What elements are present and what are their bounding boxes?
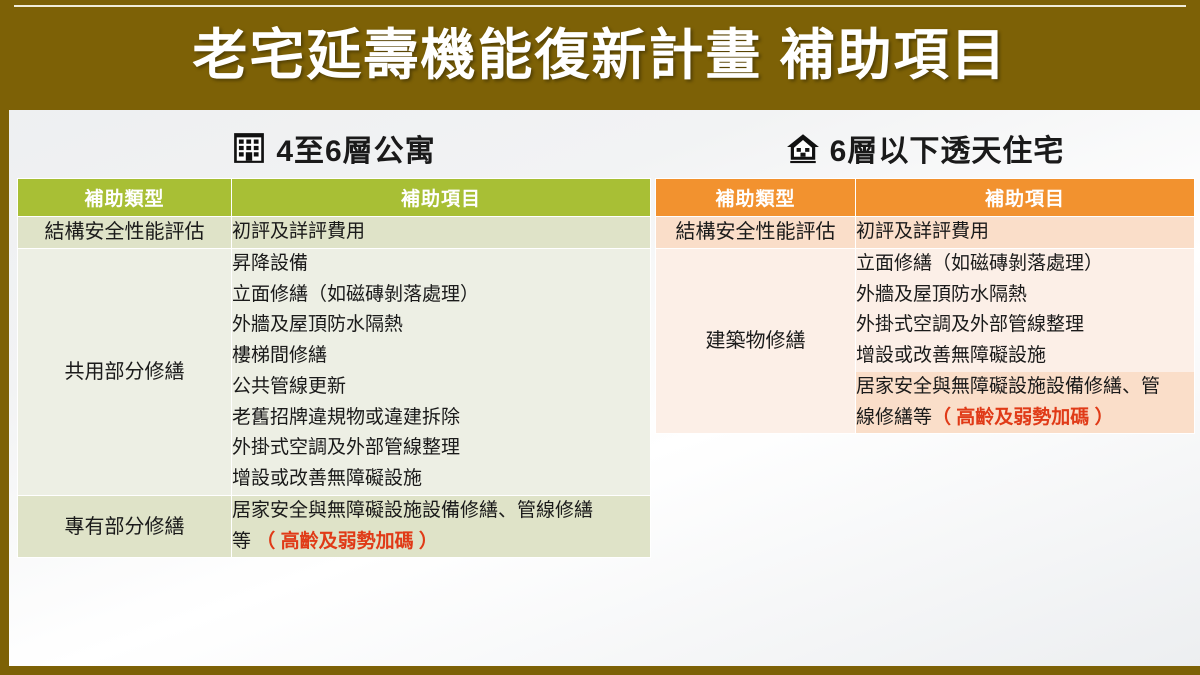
cell-category: 共用部分修繕 bbox=[18, 248, 232, 495]
house-icon bbox=[786, 131, 820, 165]
item-group-accent: 居家安全與無障礙設施設備修繕、管 線修繕等（ 高齡及弱勢加碼 ） bbox=[856, 372, 1194, 434]
cell-category: 結構安全性能評估 bbox=[656, 217, 856, 249]
item-line: 外掛式空調及外部管線整理 bbox=[856, 310, 1194, 341]
accent-prefix: 線修繕等 bbox=[856, 407, 932, 428]
item-line: 居家安全與無障礙設施設備修繕、管 bbox=[856, 372, 1194, 403]
panel-townhouse-title: 6層以下透天住宅 bbox=[830, 126, 1065, 170]
table-townhouse-header-row: 補助類型 補助項目 bbox=[656, 179, 1195, 217]
item-line: 立面修繕（如磁磚剝落處理） bbox=[856, 249, 1194, 280]
cell-category: 建築物修繕 bbox=[656, 248, 856, 434]
item-line-accent: 線修繕等（ 高齡及弱勢加碼 ） bbox=[856, 403, 1194, 434]
item-group-standard: 立面修繕（如磁磚剝落處理） 外牆及屋頂防水隔熱 外掛式空調及外部管線整理 增設或… bbox=[856, 249, 1194, 372]
item-line: 公共管線更新 bbox=[232, 372, 650, 403]
table-row: 共用部分修繕 昇降設備 立面修繕（如磁磚剝落處理） 外牆及屋頂防水隔熱 樓梯間修… bbox=[18, 248, 651, 495]
table-row: 建築物修繕 立面修繕（如磁磚剝落處理） 外牆及屋頂防水隔熱 外掛式空調及外部管線… bbox=[656, 248, 1195, 434]
panel-apartment-title: 4至6層公寓 bbox=[276, 126, 435, 170]
nested-row-plain: 立面修繕（如磁磚剝落處理） 外牆及屋頂防水隔熱 外掛式空調及外部管線整理 增設或… bbox=[856, 249, 1194, 372]
table-apartment-header-row: 補助類型 補助項目 bbox=[18, 179, 651, 217]
item-line: 外掛式空調及外部管線整理 bbox=[232, 433, 650, 464]
accent-prefix: 等 bbox=[232, 531, 251, 552]
table-row: 結構安全性能評估 初評及詳評費用 bbox=[656, 217, 1195, 249]
item-line: 居家安全與無障礙設施設備修繕、管線修繕 bbox=[232, 496, 650, 527]
panels-container: 4至6層公寓 補助類型 補助項目 結構安全性能評估 初評及詳評費用 bbox=[9, 110, 1200, 666]
nested-row-tinted: 居家安全與無障礙設施設備修繕、管 線修繕等（ 高齡及弱勢加碼 ） bbox=[856, 372, 1194, 434]
panel-townhouse-heading: 6層以下透天住宅 bbox=[655, 110, 1195, 178]
cell-category: 結構安全性能評估 bbox=[18, 217, 232, 249]
slide-root: 老宅延壽機能復新計畫 補助項目 bbox=[0, 0, 1200, 675]
item-line: 初評及詳評費用 bbox=[856, 217, 1194, 248]
column-header-category: 補助類型 bbox=[656, 179, 856, 217]
table-row: 專有部分修繕 居家安全與無障礙設施設備修繕、管線修繕 等 （ 高齡及弱勢加碼 ） bbox=[18, 495, 651, 558]
panel-apartment: 4至6層公寓 補助類型 補助項目 結構安全性能評估 初評及詳評費用 bbox=[17, 110, 651, 666]
item-line-accent: 等 （ 高齡及弱勢加碼 ） bbox=[232, 527, 650, 558]
column-header-item: 補助項目 bbox=[232, 179, 651, 217]
table-row: 結構安全性能評估 初評及詳評費用 bbox=[18, 217, 651, 249]
frame-bottom-bar bbox=[0, 666, 1200, 675]
table-townhouse: 補助類型 補助項目 結構安全性能評估 初評及詳評費用 建築物修繕 bbox=[655, 178, 1195, 434]
column-header-category: 補助類型 bbox=[18, 179, 232, 217]
cell-items: 居家安全與無障礙設施設備修繕、管線修繕 等 （ 高齡及弱勢加碼 ） bbox=[232, 495, 651, 558]
item-line: 增設或改善無障礙設施 bbox=[232, 464, 650, 495]
item-line: 昇降設備 bbox=[232, 249, 650, 280]
item-line: 增設或改善無障礙設施 bbox=[856, 341, 1194, 372]
item-line: 外牆及屋頂防水隔熱 bbox=[232, 310, 650, 341]
nested-item-groups: 立面修繕（如磁磚剝落處理） 外牆及屋頂防水隔熱 外掛式空調及外部管線整理 增設或… bbox=[856, 249, 1194, 434]
office-building-icon bbox=[232, 131, 266, 165]
page-banner: 老宅延壽機能復新計畫 補助項目 bbox=[0, 0, 1200, 110]
item-line: 樓梯間修繕 bbox=[232, 341, 650, 372]
accent-note: （ 高齡及弱勢加碼 ） bbox=[256, 531, 438, 552]
item-line: 外牆及屋頂防水隔熱 bbox=[856, 280, 1194, 311]
cell-items: 初評及詳評費用 bbox=[856, 217, 1195, 249]
table-apartment: 補助類型 補助項目 結構安全性能評估 初評及詳評費用 共用部分修繕 bbox=[17, 178, 651, 558]
item-line: 初評及詳評費用 bbox=[232, 217, 650, 248]
cell-items: 昇降設備 立面修繕（如磁磚剝落處理） 外牆及屋頂防水隔熱 樓梯間修繕 公共管線更… bbox=[232, 248, 651, 495]
column-header-item: 補助項目 bbox=[856, 179, 1195, 217]
item-line: 立面修繕（如磁磚剝落處理） bbox=[232, 280, 650, 311]
panel-apartment-heading: 4至6層公寓 bbox=[17, 110, 651, 178]
cell-items: 立面修繕（如磁磚剝落處理） 外牆及屋頂防水隔熱 外掛式空調及外部管線整理 增設或… bbox=[856, 248, 1195, 434]
cell-items: 初評及詳評費用 bbox=[232, 217, 651, 249]
page-title: 老宅延壽機能復新計畫 補助項目 bbox=[192, 28, 1007, 83]
cell-category: 專有部分修繕 bbox=[18, 495, 232, 558]
item-line: 老舊招牌違規物或違建拆除 bbox=[232, 403, 650, 434]
panel-townhouse: 6層以下透天住宅 補助類型 補助項目 結構安全性能評估 初評及詳評費用 bbox=[655, 110, 1195, 666]
accent-note: （ 高齡及弱勢加碼 ） bbox=[932, 407, 1114, 428]
